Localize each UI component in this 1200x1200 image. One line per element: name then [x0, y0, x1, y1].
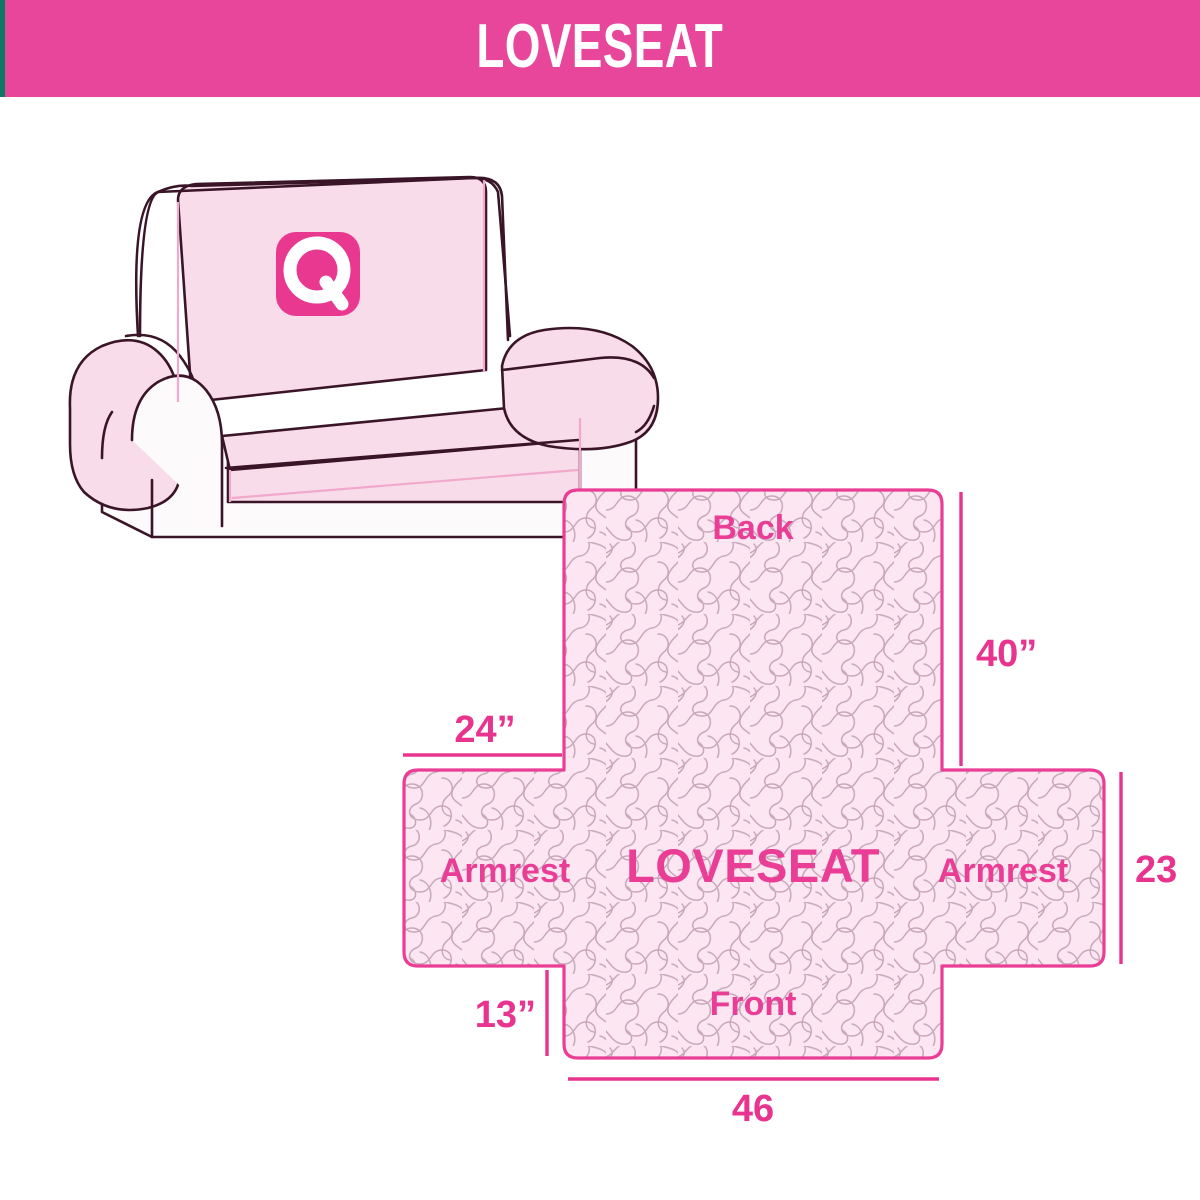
dimension-value-13: 13” [475, 994, 536, 1036]
dimension-value-24: 24” [454, 709, 515, 751]
dimension-seat-depth: 23” [1121, 772, 1180, 964]
dimension-value-40: 40” [976, 633, 1037, 675]
dimension-diagram: Back Armrest Armrest Front LOVESEAT 40” … [390, 470, 1180, 1150]
dimension-value-46: 46 [732, 1088, 774, 1130]
center-label-loveseat: LOVESEAT [626, 839, 880, 892]
dimension-total-width: 46 [568, 1079, 939, 1130]
panel-label-armrest-right: Armrest [938, 852, 1068, 890]
cover-cross-shape [390, 470, 1180, 1150]
panel-label-back: Back [712, 509, 793, 547]
page-title: LOVESEAT [477, 16, 724, 82]
dimension-value-23: 23” [1135, 849, 1180, 891]
dimension-armrest-width: 24” [403, 709, 562, 755]
dimension-front-height: 13” [475, 970, 547, 1056]
brand-logo [276, 232, 360, 316]
dimension-back-height: 40” [961, 492, 1037, 766]
header-accent-stripe [0, 0, 5, 97]
header-banner: LOVESEAT [0, 0, 1200, 97]
panel-label-armrest-left: Armrest [440, 852, 570, 890]
panel-label-front: Front [710, 985, 797, 1023]
product-dimension-page: LOVESEAT [0, 0, 1200, 1200]
